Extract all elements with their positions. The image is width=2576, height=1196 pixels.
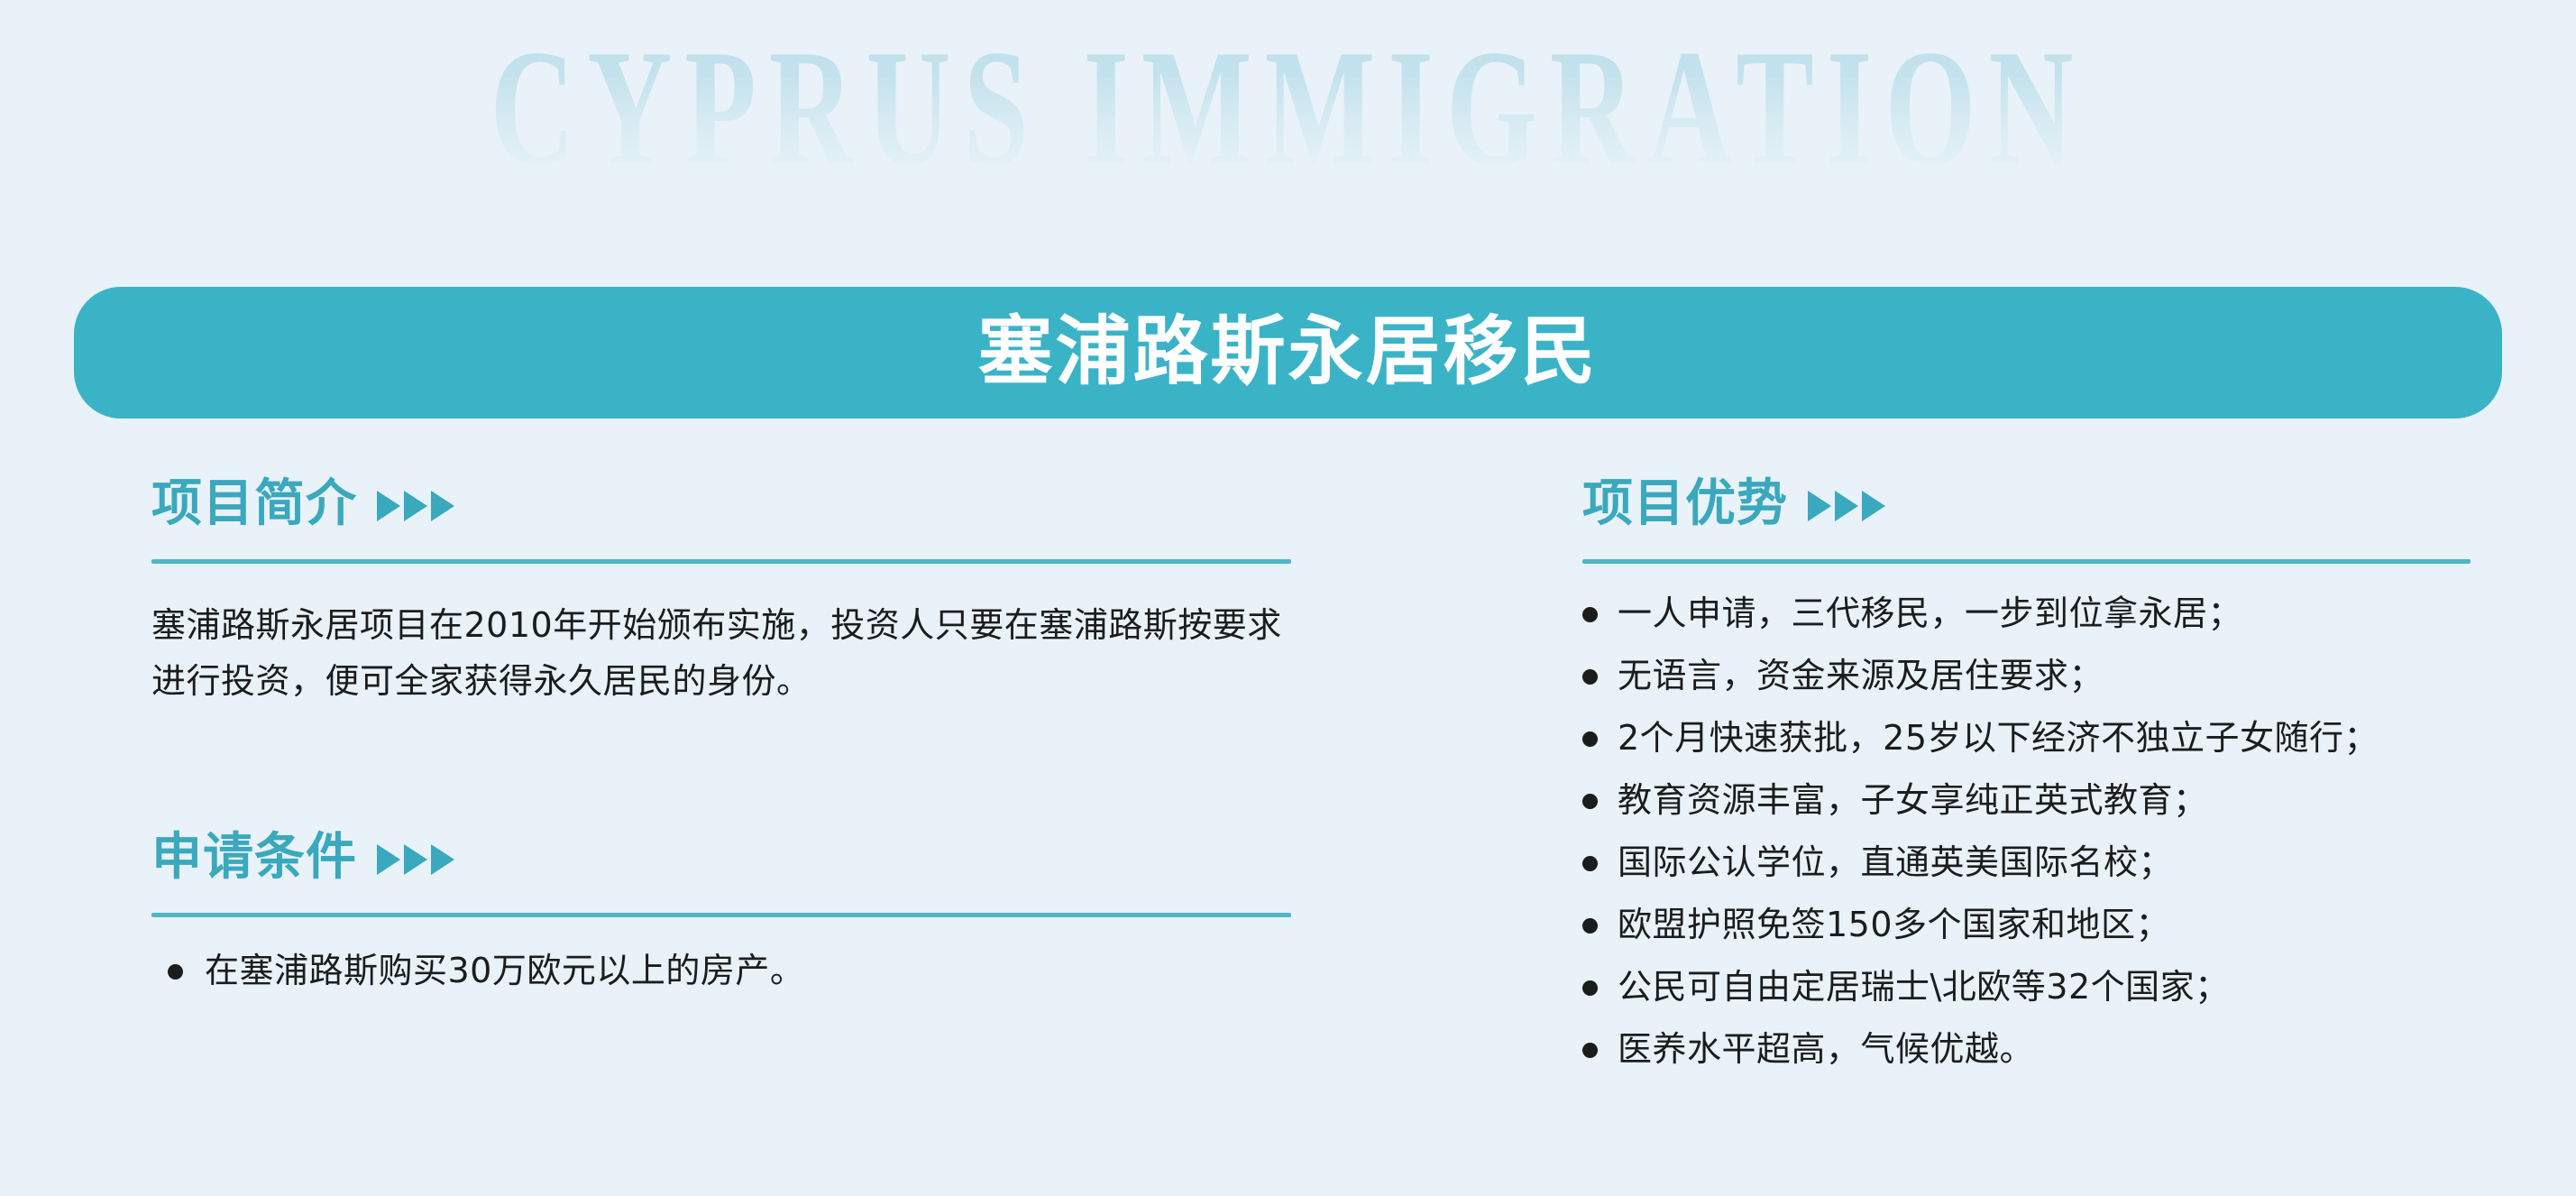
bullet-dot-icon	[1582, 731, 1598, 747]
advantages-list: 一人申请，三代移民，一步到位拿永居； 无语言，资金来源及居住要求； 2个月快速获…	[1582, 596, 2475, 1066]
list-item: 欧盟护照免签150多个国家和地区；	[1582, 907, 2475, 942]
triple-right-arrow-icon	[1808, 491, 1885, 521]
list-item: 无语言，资金来源及居住要求；	[1582, 658, 2475, 693]
list-item-label: 欧盟护照免签150多个国家和地区；	[1618, 907, 2170, 942]
left-column-spacer	[151, 743, 1297, 823]
section-advantages-header: 项目优势	[1582, 469, 2475, 539]
list-item-label: 医养水平超高，气候优越。	[1618, 1032, 2034, 1066]
list-item: 2个月快速获批，25岁以下经济不独立子女随行；	[1582, 721, 2475, 755]
watermark-band: CYPRUS IMMIGRATION	[0, 0, 2576, 271]
list-item: 教育资源丰富，子女享纯正英式教育；	[1582, 783, 2475, 817]
list-item-label: 公民可自由定居瑞士\北欧等32个国家；	[1618, 970, 2230, 1004]
section-requirements-header: 申请条件	[151, 823, 1297, 893]
section-intro-divider	[151, 559, 1291, 564]
section-intro-title: 项目简介	[151, 479, 357, 529]
page-title: 塞浦路斯永居移民	[978, 314, 1599, 389]
section-requirements-title: 申请条件	[151, 833, 357, 883]
section-advantages: 项目优势 一人申请，三代移民，一步到位拿永居；	[1582, 469, 2475, 1066]
section-advantages-divider	[1582, 559, 2471, 564]
section-advantages-title: 项目优势	[1582, 479, 1788, 529]
triple-right-arrow-icon	[377, 844, 454, 875]
list-item: 一人申请，三代移民，一步到位拿永居；	[1582, 596, 2475, 630]
section-intro-paragraph: 塞浦路斯永居项目在2010年开始颁布实施，投资人只要在塞浦路斯按要求进行投资，便…	[151, 598, 1297, 709]
list-item: 在塞浦路斯购买30万欧元以上的房产。	[151, 953, 1297, 988]
list-item: 公民可自由定居瑞士\北欧等32个国家；	[1582, 970, 2475, 1004]
bullet-dot-icon	[1582, 1043, 1598, 1058]
list-item-label: 在塞浦路斯购买30万欧元以上的房产。	[205, 953, 804, 988]
triple-right-arrow-icon	[377, 491, 454, 521]
section-requirements: 申请条件 在塞浦路斯购买30万欧元以上的房产。	[151, 823, 1297, 988]
watermark-title: CYPRUS IMMIGRATION	[490, 25, 2086, 192]
right-column: 项目优势 一人申请，三代移民，一步到位拿永居；	[1582, 469, 2475, 1094]
list-item-label: 2个月快速获批，25岁以下经济不独立子女随行；	[1618, 721, 2379, 755]
left-column: 项目简介 塞浦路斯永居项目在2010年开始颁布实施，投资人只要在塞浦路斯按要求进…	[151, 469, 1297, 1013]
bullet-dot-icon	[168, 964, 183, 980]
bullet-dot-icon	[1582, 980, 1598, 996]
bullet-dot-icon	[1582, 856, 1598, 871]
bullet-dot-icon	[1582, 918, 1598, 934]
list-item-label: 国际公认学位，直通英美国际名校；	[1618, 845, 2173, 879]
bullet-dot-icon	[1582, 794, 1598, 809]
bullet-dot-icon	[1582, 607, 1598, 622]
list-item-label: 一人申请，三代移民，一步到位拿永居；	[1618, 596, 2242, 630]
requirements-list: 在塞浦路斯购买30万欧元以上的房产。	[151, 953, 1297, 988]
title-banner: 塞浦路斯永居移民	[74, 287, 2502, 419]
list-item-label: 无语言，资金来源及居住要求；	[1618, 658, 2104, 693]
bullet-dot-icon	[1582, 669, 1598, 685]
section-project-intro: 项目简介 塞浦路斯永居项目在2010年开始颁布实施，投资人只要在塞浦路斯按要求进…	[151, 469, 1297, 709]
content-columns: 项目简介 塞浦路斯永居项目在2010年开始颁布实施，投资人只要在塞浦路斯按要求进…	[0, 469, 2576, 1118]
list-item-label: 教育资源丰富，子女享纯正英式教育；	[1618, 783, 2208, 817]
section-requirements-divider	[151, 913, 1291, 917]
list-item: 医养水平超高，气候优越。	[1582, 1032, 2475, 1066]
list-item: 国际公认学位，直通英美国际名校；	[1582, 845, 2475, 879]
section-intro-header: 项目简介	[151, 469, 1297, 539]
